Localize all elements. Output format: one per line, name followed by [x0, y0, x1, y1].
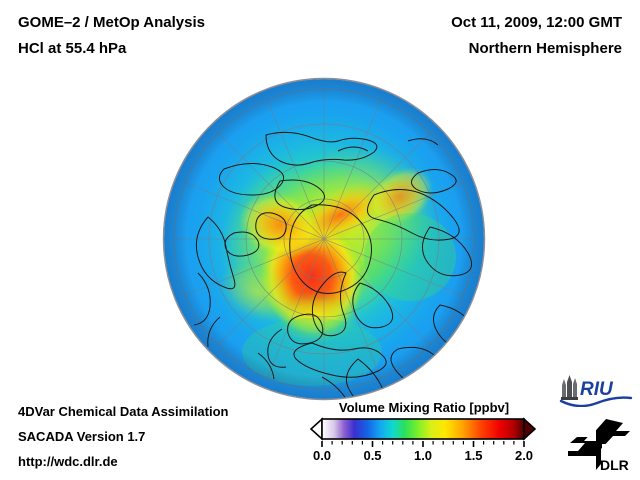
page-title: GOME–2 / MetOp Analysis: [18, 14, 205, 31]
riu-wordmark: RIU: [580, 379, 614, 400]
timestamp-label: Oct 11, 2009, 12:00 GMT: [451, 14, 622, 31]
dlr-wordmark: DLR: [600, 457, 629, 472]
page-subtitle: HCl at 55.4 hPa: [18, 40, 126, 57]
footer-line-2: SACADA Version 1.7: [18, 429, 145, 444]
colorbar-tick-label: 1.5: [464, 448, 482, 463]
colorbar: [306, 417, 540, 441]
colorbar-tick-label: 1.0: [414, 448, 432, 463]
colorbar-tick-label: 2.0: [515, 448, 533, 463]
globe-map: [162, 77, 486, 401]
riu-logo: RIU: [558, 373, 634, 407]
footer-url[interactable]: http://wdc.dlr.de: [18, 454, 118, 469]
visualization-page: GOME–2 / MetOp Analysis HCl at 55.4 hPa …: [0, 0, 640, 480]
colorbar-tick-label: 0.5: [363, 448, 381, 463]
riu-tower-icon: [561, 375, 578, 400]
colorbar-title: Volume Mixing Ratio [ppbv]: [315, 400, 533, 415]
region-label: Northern Hemisphere: [469, 40, 622, 57]
colorbar-left-cap: [311, 419, 322, 439]
colorbar-right-cap: [524, 419, 535, 439]
dlr-logo: DLR: [566, 418, 634, 472]
footer-line-1: 4DVar Chemical Data Assimilation: [18, 404, 229, 419]
colorbar-tick-label: 0.0: [313, 448, 331, 463]
globe-disk: [164, 79, 484, 401]
colorbar-tick-labels: 0.00.51.01.52.0: [306, 448, 540, 468]
colorbar-gradient: [322, 419, 524, 439]
